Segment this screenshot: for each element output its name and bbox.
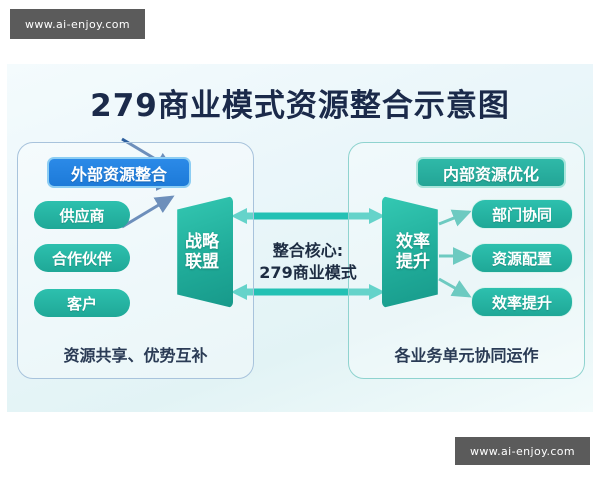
integration-core-label: 整合核心: 279商业模式 <box>238 240 378 283</box>
list-item-customer[interactable]: 客户 <box>34 289 130 317</box>
list-item-supplier[interactable]: 供应商 <box>34 201 130 229</box>
strategic-alliance-node[interactable]: 战略 联盟 <box>171 196 233 308</box>
internal-resources-header: 内部资源优化 <box>416 157 566 188</box>
list-item-resource-allocation[interactable]: 资源配置 <box>471 243 573 273</box>
watermark-bottom: www.ai-enjoy.com <box>455 437 590 465</box>
strategic-alliance-line1: 战略 <box>185 232 219 252</box>
efficiency-improvement-line1: 效率 <box>396 232 430 252</box>
diagram-card: 279商业模式资源整合示意图 <box>7 64 593 412</box>
list-item-department-collaboration[interactable]: 部门协同 <box>471 199 573 229</box>
internal-resources-footer: 各业务单元协同运作 <box>349 342 584 366</box>
integration-core-line1: 整合核心: <box>238 240 378 262</box>
list-item-partner[interactable]: 合作伙伴 <box>34 244 130 272</box>
efficiency-improvement-node[interactable]: 效率 提升 <box>382 196 444 308</box>
external-resources-header: 外部资源整合 <box>47 157 191 188</box>
diagram-title: 279商业模式资源整合示意图 <box>7 80 593 125</box>
strategic-alliance-line2: 联盟 <box>185 252 219 272</box>
watermark-top: www.ai-enjoy.com <box>10 9 145 39</box>
integration-core-line2: 279商业模式 <box>238 262 378 284</box>
efficiency-improvement-line2: 提升 <box>396 252 430 272</box>
external-resources-footer: 资源共享、优势互补 <box>18 342 253 366</box>
list-item-efficiency-improvement[interactable]: 效率提升 <box>471 287 573 317</box>
